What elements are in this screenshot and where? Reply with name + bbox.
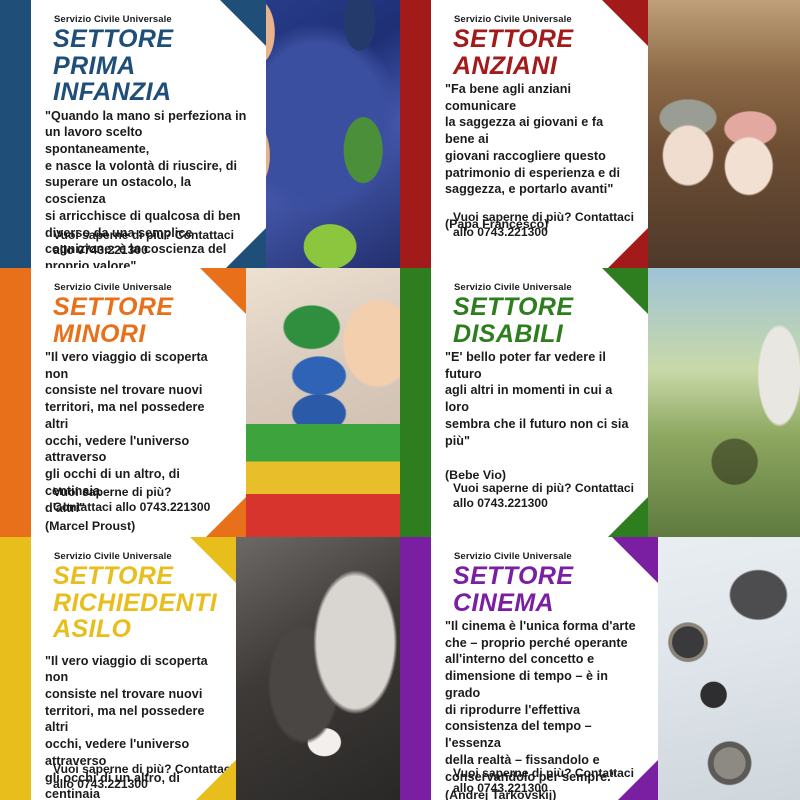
sector-quote: "Il cinema è l'unica forma d'arte che – … [445, 618, 642, 785]
card-disabili: Servizio Civile Universale SETTORE DISAB… [431, 268, 648, 537]
corner-triangle-top-right [612, 537, 658, 583]
corner-triangle-bottom-right [226, 228, 266, 268]
sectors-poster-grid: Servizio Civile Universale SETTORE PRIMA… [0, 0, 800, 800]
accent-bar-cinema [400, 537, 431, 800]
corner-triangle-bottom-right [618, 760, 658, 800]
sector-contact[interactable]: Vuoi saperne di più? Contattaci allo 074… [53, 228, 234, 258]
corner-triangle-bottom-right [206, 497, 246, 537]
card-minori: Servizio Civile Universale SETTORE MINOR… [31, 268, 246, 537]
sector-quote-author: (Marcel Proust) [45, 518, 230, 535]
corner-triangle-top-right [190, 537, 236, 583]
corner-triangle-top-right [602, 268, 648, 314]
corner-triangle-bottom-right [196, 760, 236, 800]
panel-photo-cinema [640, 537, 800, 800]
panel-photo-richiedenti-asilo [228, 537, 400, 800]
sector-contact[interactable]: Vuoi saperne di più? Contattaci allo 074… [453, 766, 634, 796]
panel-photo-disabili [628, 268, 800, 537]
accent-bar-prima-infanzia [0, 0, 31, 268]
sector-contact[interactable]: Vuoi saperne di più? Contattaci allo 074… [453, 210, 634, 240]
panel-richiedenti-asilo[interactable]: Servizio Civile Universale SETTORE RICHI… [0, 537, 400, 800]
card-cinema: Servizio Civile Universale SETTORE CINEM… [431, 537, 658, 800]
panel-anziani[interactable]: Servizio Civile Universale SETTORE ANZIA… [400, 0, 800, 268]
accent-bar-disabili [400, 268, 431, 537]
panel-photo-anziani [640, 0, 800, 268]
sector-contact[interactable]: Vuoi saperne di più? Contattaci allo 074… [53, 485, 210, 515]
accent-bar-richiedenti-asilo [0, 537, 31, 800]
panel-cinema[interactable]: Servizio Civile Universale SETTORE CINEM… [400, 537, 800, 800]
corner-triangle-top-right [220, 0, 266, 46]
card-prima-infanzia: Servizio Civile Universale SETTORE PRIMA… [31, 0, 266, 268]
panel-minori[interactable]: Servizio Civile Universale SETTORE MINOR… [0, 268, 400, 537]
corner-triangle-bottom-right [608, 497, 648, 537]
card-richiedenti-asilo: Servizio Civile Universale SETTORE RICHI… [31, 537, 236, 800]
sector-quote: "E' bello poter far vedere il futuro agl… [445, 349, 632, 449]
panel-disabili[interactable]: Servizio Civile Universale SETTORE DISAB… [400, 268, 800, 537]
sector-contact[interactable]: Vuoi saperne di più? Contattaci allo 074… [453, 481, 634, 511]
accent-bar-anziani [400, 0, 431, 268]
card-anziani: Servizio Civile Universale SETTORE ANZIA… [431, 0, 648, 268]
panel-prima-infanzia[interactable]: Servizio Civile Universale SETTORE PRIMA… [0, 0, 400, 268]
corner-triangle-top-right [602, 0, 648, 46]
accent-bar-minori [0, 268, 31, 537]
corner-triangle-bottom-right [608, 228, 648, 268]
corner-triangle-top-right [200, 268, 246, 314]
sector-quote: "Fa bene agli anziani comunicare la sagg… [445, 81, 632, 198]
